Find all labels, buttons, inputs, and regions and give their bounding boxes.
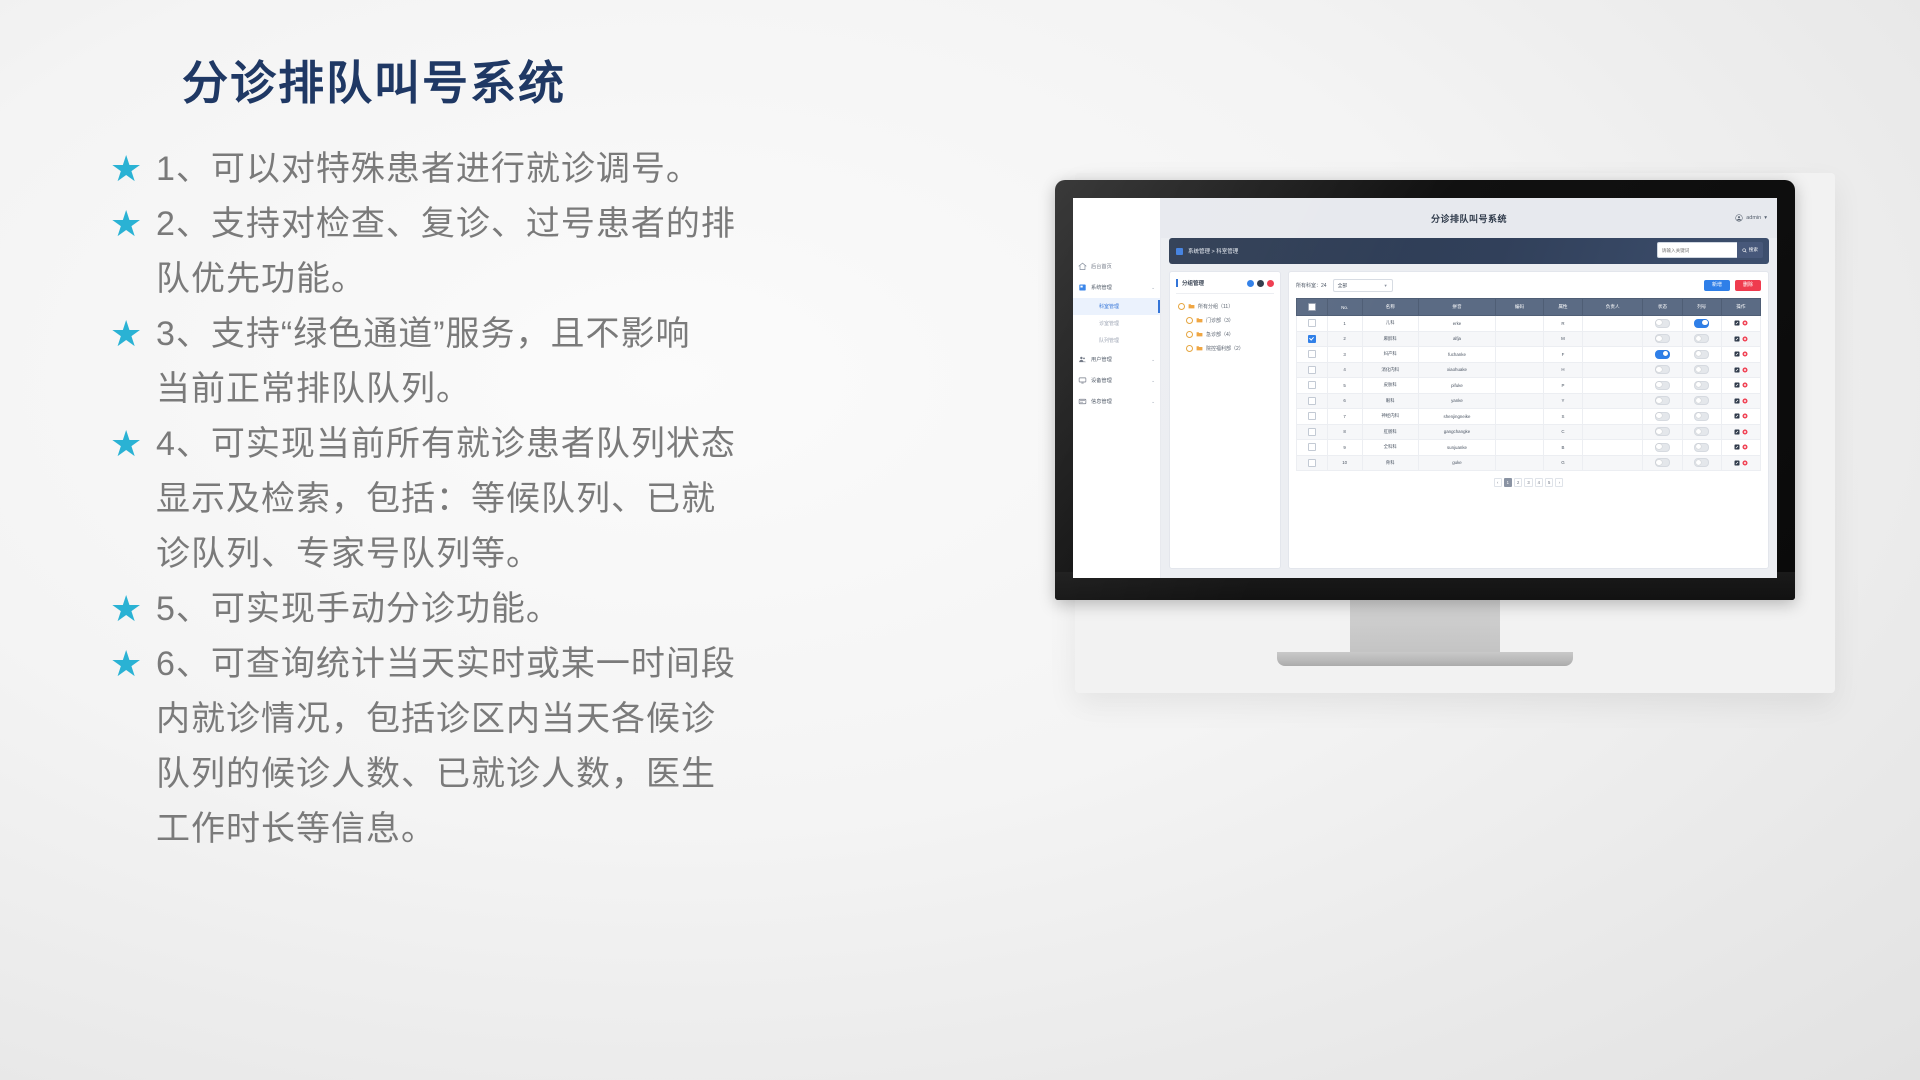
sidebar-subitem-label: 队列管理 — [1099, 337, 1119, 344]
row-operations[interactable] — [1721, 409, 1760, 425]
bullet-text: 显示及检索，包括：等候队列、已就 — [156, 473, 716, 525]
row-pinyin: guke — [1418, 455, 1495, 471]
bullet-text: 5、可实现手动分诊功能。 — [156, 583, 561, 635]
status-toggle-cell[interactable] — [1643, 393, 1682, 409]
sidebar-item-label: 系统管理 — [1091, 284, 1147, 291]
department-filter-select[interactable]: 全部 ▼ — [1333, 279, 1393, 292]
folder-icon — [1188, 303, 1195, 309]
sidebar-subitem-label: 诊室管理 — [1099, 320, 1119, 327]
edit-icon[interactable] — [1734, 413, 1740, 419]
star-icon: ★ — [110, 143, 156, 195]
row-attr: C — [1543, 424, 1582, 440]
edit-icon[interactable] — [1734, 320, 1740, 326]
row-checkbox[interactable] — [1308, 443, 1316, 451]
system-icon — [1078, 283, 1087, 292]
edit-icon[interactable] — [1734, 398, 1740, 404]
edit-icon[interactable] — [1734, 367, 1740, 373]
expand-toggle-icon[interactable] — [1178, 303, 1185, 310]
row-select-cell[interactable] — [1297, 440, 1328, 456]
slide-text-column: 分诊排队叫号系统 ★1、可以对特殊患者进行就诊调号。★2、支持对检查、复诊、过号… — [110, 58, 900, 858]
status-toggle[interactable] — [1655, 334, 1670, 343]
row-no: 4 — [1327, 362, 1362, 378]
folder-icon — [1196, 331, 1203, 337]
queue-toggle-cell[interactable] — [1682, 455, 1721, 471]
bullet-text: 2、支持对检查、复诊、过号患者的排 — [156, 198, 736, 250]
row-operations[interactable] — [1721, 378, 1760, 394]
app-title: 分诊排队叫号系统 — [1431, 212, 1507, 225]
queue-toggle-cell[interactable] — [1682, 409, 1721, 425]
queue-toggle-cell[interactable] — [1682, 440, 1721, 456]
status-toggle[interactable] — [1655, 458, 1670, 467]
row-checkbox[interactable] — [1308, 397, 1316, 405]
app-main: 分诊排队叫号系统 admin ▾ — [1161, 198, 1777, 578]
table-row[interactable]: 8肛肠科gangchangkeC — [1297, 424, 1761, 440]
star-icon-placeholder: ★ — [110, 253, 156, 305]
row-code — [1496, 378, 1544, 394]
chevron-down-icon: ▼ — [1384, 283, 1388, 288]
queue-toggle-cell[interactable] — [1682, 347, 1721, 363]
delete-icon[interactable] — [1742, 460, 1748, 466]
row-name: 儿科 — [1362, 316, 1418, 332]
group-tree-title: 分组管理 — [1182, 279, 1247, 287]
pagination-prev[interactable]: ‹ — [1494, 478, 1502, 487]
star-icon: ★ — [110, 583, 156, 635]
row-code — [1496, 393, 1544, 409]
users-icon — [1078, 355, 1087, 364]
bullet-continuation: ★队列的候诊人数、已就诊人数，医生 — [110, 748, 900, 800]
tree-node-label: 门诊部（3） — [1206, 317, 1234, 324]
delete-icon[interactable] — [1742, 413, 1748, 419]
tree-node[interactable]: 院控福利部（2） — [1176, 341, 1274, 355]
row-name: 骨科 — [1362, 455, 1418, 471]
app-screen: 后台首页系统管理⌄科室管理诊室管理队列管理用户管理⌄设备管理⌄信息管理⌄ 分诊排… — [1073, 198, 1777, 578]
row-pinyin: alfja — [1418, 331, 1495, 347]
bullet-item: ★6、可查询统计当天实时或某一时间段 — [110, 638, 900, 690]
pagination-page-2[interactable]: 2 — [1514, 478, 1522, 487]
bullet-item: ★3、支持“绿色通道”服务，且不影响 — [110, 308, 900, 360]
info-icon — [1078, 397, 1087, 406]
bullet-continuation: ★显示及检索，包括：等候队列、已就 — [110, 473, 900, 525]
table-row[interactable]: 10骨科gukeG — [1297, 455, 1761, 471]
monitor-mockup: 后台首页系统管理⌄科室管理诊室管理队列管理用户管理⌄设备管理⌄信息管理⌄ 分诊排… — [1055, 165, 1855, 705]
delete-icon[interactable] — [1742, 351, 1748, 357]
app-topbar: 分诊排队叫号系统 admin ▾ — [1161, 198, 1777, 238]
chevron-down-icon: ⌄ — [1151, 399, 1155, 405]
star-icon: ★ — [110, 308, 156, 360]
row-attr: B — [1543, 440, 1582, 456]
row-owner — [1583, 331, 1643, 347]
device-icon — [1078, 376, 1087, 385]
row-name: 神经内科 — [1362, 409, 1418, 425]
row-owner — [1583, 393, 1643, 409]
app-sidebar: 后台首页系统管理⌄科室管理诊室管理队列管理用户管理⌄设备管理⌄信息管理⌄ — [1073, 198, 1161, 578]
row-code — [1496, 331, 1544, 347]
row-name: 妇产科 — [1362, 347, 1418, 363]
table-row[interactable]: 3妇产科fuchankeF — [1297, 347, 1761, 363]
row-no: 8 — [1327, 424, 1362, 440]
row-code — [1496, 347, 1544, 363]
delete-icon[interactable] — [1742, 367, 1748, 373]
delete-icon[interactable] — [1742, 429, 1748, 435]
tree-node[interactable]: 门诊部（3） — [1176, 313, 1274, 327]
bullet-item: ★2、支持对检查、复诊、过号患者的排 — [110, 198, 900, 250]
queue-toggle[interactable] — [1694, 412, 1709, 421]
star-icon-placeholder: ★ — [110, 473, 156, 525]
tree-node-label: 所有分组（11） — [1198, 303, 1233, 310]
star-icon-placeholder: ★ — [110, 528, 156, 580]
edit-icon[interactable] — [1734, 351, 1740, 357]
chevron-down-icon: ⌄ — [1151, 357, 1155, 363]
user-name: admin — [1746, 215, 1761, 221]
row-owner — [1583, 424, 1643, 440]
monitor-bezel: 后台首页系统管理⌄科室管理诊室管理队列管理用户管理⌄设备管理⌄信息管理⌄ 分诊排… — [1055, 180, 1795, 600]
page-title: 分诊排队叫号系统 — [182, 58, 900, 109]
status-toggle-cell[interactable] — [1643, 378, 1682, 394]
column-header-6: 负责人 — [1583, 299, 1643, 316]
table-row[interactable]: 4消化内科xiaohuakeH — [1297, 362, 1761, 378]
row-select-cell[interactable] — [1297, 347, 1328, 363]
group-tree-panel: 分组管理 所有分组（11）门诊部（3）急诊部（4）院控福利部（2） — [1169, 271, 1281, 569]
edit-icon[interactable] — [1734, 336, 1740, 342]
row-attr: Y — [1543, 393, 1582, 409]
bullet-text: 内就诊情况，包括诊区内当天各候诊 — [156, 693, 716, 745]
row-pinyin: fuchanke — [1418, 347, 1495, 363]
search-icon — [1742, 248, 1747, 253]
divider — [1176, 293, 1274, 294]
bullet-text: 1、可以对特殊患者进行就诊调号。 — [156, 143, 701, 195]
queue-toggle-cell[interactable] — [1682, 362, 1721, 378]
bullet-item: ★5、可实现手动分诊功能。 — [110, 583, 900, 635]
edit-icon[interactable] — [1734, 429, 1740, 435]
queue-toggle[interactable] — [1694, 334, 1709, 343]
chevron-down-icon: ⌄ — [1151, 378, 1155, 384]
queue-toggle[interactable] — [1694, 458, 1709, 467]
delete-dot-icon[interactable] — [1267, 280, 1274, 287]
group-tree-actions — [1247, 280, 1274, 287]
table-row[interactable]: 2麻醉科alfjaM — [1297, 331, 1761, 347]
row-attr: R — [1543, 316, 1582, 332]
expand-toggle-icon[interactable] — [1186, 331, 1193, 338]
bullet-text: 队优先功能。 — [156, 253, 366, 305]
bullet-continuation: ★内就诊情况，包括诊区内当天各候诊 — [110, 693, 900, 745]
column-header-9: 操作 — [1721, 299, 1760, 316]
row-name: 眼科 — [1362, 393, 1418, 409]
pagination: ‹12345› — [1296, 478, 1761, 487]
bullet-continuation: ★队优先功能。 — [110, 253, 900, 305]
row-attr: S — [1543, 409, 1582, 425]
row-code — [1496, 440, 1544, 456]
row-operations[interactable] — [1721, 393, 1760, 409]
row-code — [1496, 455, 1544, 471]
bullet-item: ★1、可以对特殊患者进行就诊调号。 — [110, 143, 900, 195]
row-attr: G — [1543, 455, 1582, 471]
pagination-page-4[interactable]: 4 — [1535, 478, 1543, 487]
table-body: 1儿科erkeR2麻醉科alfjaM3妇产科fuchankeF4消化内科xiao… — [1297, 316, 1761, 471]
queue-toggle[interactable] — [1694, 350, 1709, 359]
row-no: 10 — [1327, 455, 1362, 471]
row-operations[interactable] — [1721, 331, 1760, 347]
row-code — [1496, 362, 1544, 378]
status-toggle[interactable] — [1655, 427, 1670, 436]
breadcrumb-square-icon — [1176, 248, 1183, 255]
row-checkbox[interactable] — [1308, 428, 1316, 436]
star-icon-placeholder: ★ — [110, 748, 156, 800]
home-icon — [1078, 262, 1087, 271]
search-button[interactable]: 搜索 — [1737, 242, 1763, 258]
row-name: 皮肤科 — [1362, 378, 1418, 394]
status-toggle[interactable] — [1655, 381, 1670, 390]
row-owner — [1583, 455, 1643, 471]
row-operations[interactable] — [1721, 455, 1760, 471]
sidebar-item-1[interactable]: 系统管理⌄ — [1073, 277, 1160, 298]
sidebar-item-label: 设备管理 — [1091, 377, 1147, 384]
row-attr: F — [1543, 347, 1582, 363]
row-select-cell[interactable] — [1297, 316, 1328, 332]
row-code — [1496, 316, 1544, 332]
row-select-cell[interactable] — [1297, 409, 1328, 425]
row-operations[interactable] — [1721, 440, 1760, 456]
filter-value: 全部 — [1338, 282, 1348, 289]
select-all-checkbox[interactable] — [1308, 303, 1316, 311]
group-tree-nodes: 所有分组（11）门诊部（3）急诊部（4）院控福利部（2） — [1176, 299, 1274, 355]
row-checkbox[interactable] — [1308, 381, 1316, 389]
column-header-7: 状态 — [1643, 299, 1682, 316]
row-operations[interactable] — [1721, 316, 1760, 332]
delete-button[interactable]: 删除 — [1735, 280, 1761, 291]
row-pinyin: erke — [1418, 316, 1495, 332]
status-toggle-cell[interactable] — [1643, 409, 1682, 425]
row-no: 3 — [1327, 347, 1362, 363]
bullet-continuation: ★诊队列、专家号队列等。 — [110, 528, 900, 580]
status-toggle-cell[interactable] — [1643, 362, 1682, 378]
feature-bullet-list: ★1、可以对特殊患者进行就诊调号。★2、支持对检查、复诊、过号患者的排★队优先功… — [110, 143, 900, 855]
row-no: 1 — [1327, 316, 1362, 332]
row-select-cell[interactable] — [1297, 331, 1328, 347]
add-dot-icon[interactable] — [1247, 280, 1254, 287]
row-checkbox[interactable] — [1308, 335, 1316, 343]
queue-toggle[interactable] — [1694, 365, 1709, 374]
sidebar-item-label: 信息管理 — [1091, 398, 1147, 405]
edit-icon[interactable] — [1734, 460, 1740, 466]
queue-toggle[interactable] — [1694, 443, 1709, 452]
table-row[interactable]: 5皮肤科pifukeP — [1297, 378, 1761, 394]
status-toggle-cell[interactable] — [1643, 455, 1682, 471]
row-select-cell[interactable] — [1297, 424, 1328, 440]
bullet-text: 队列的候诊人数、已就诊人数，医生 — [156, 748, 716, 800]
row-no: 5 — [1327, 378, 1362, 394]
bullet-text: 4、可实现当前所有就诊患者队列状态 — [156, 418, 736, 470]
status-toggle[interactable] — [1655, 412, 1670, 421]
row-code — [1496, 424, 1544, 440]
breadcrumb: 系统管理 > 科室管理 — [1188, 247, 1238, 255]
search-group: 搜索 — [1657, 242, 1763, 258]
status-toggle[interactable] — [1655, 319, 1670, 328]
status-toggle[interactable] — [1655, 443, 1670, 452]
row-attr: P — [1543, 378, 1582, 394]
row-attr: M — [1543, 331, 1582, 347]
sidebar-item-6[interactable]: 设备管理⌄ — [1073, 370, 1160, 391]
delete-icon[interactable] — [1742, 398, 1748, 404]
status-toggle[interactable] — [1655, 396, 1670, 405]
column-header-1: No. — [1327, 299, 1362, 316]
monitor-stand-neck — [1350, 600, 1500, 658]
status-toggle[interactable] — [1655, 365, 1670, 374]
sidebar-item-7[interactable]: 信息管理⌄ — [1073, 391, 1160, 412]
star-icon-placeholder: ★ — [110, 803, 156, 855]
search-button-label: 搜索 — [1749, 247, 1758, 253]
row-name: 麻醉科 — [1362, 331, 1418, 347]
column-header-4: 编码 — [1496, 299, 1544, 316]
row-select-cell[interactable] — [1297, 378, 1328, 394]
expand-toggle-icon[interactable] — [1186, 317, 1193, 324]
table-row[interactable]: 6眼科yankeY — [1297, 393, 1761, 409]
table-row[interactable]: 1儿科erkeR — [1297, 316, 1761, 332]
row-operations[interactable] — [1721, 424, 1760, 440]
sidebar-item-0[interactable]: 后台首页 — [1073, 256, 1160, 277]
chevron-down-icon: ▾ — [1764, 215, 1767, 221]
status-toggle-cell[interactable] — [1643, 347, 1682, 363]
edit-icon[interactable] — [1734, 382, 1740, 388]
row-no: 7 — [1327, 409, 1362, 425]
star-icon: ★ — [110, 638, 156, 690]
row-owner — [1583, 409, 1643, 425]
column-header-5: 属性 — [1543, 299, 1582, 316]
row-operations[interactable] — [1721, 347, 1760, 363]
row-select-cell[interactable] — [1297, 362, 1328, 378]
row-pinyin: xiaohuake — [1418, 362, 1495, 378]
sidebar-subitem-4[interactable]: 队列管理 — [1073, 332, 1160, 349]
bullet-continuation: ★当前正常排队队列。 — [110, 363, 900, 415]
sidebar-item-5[interactable]: 用户管理⌄ — [1073, 349, 1160, 370]
table-header-row: No.名称拼音编码属性负责人状态列号操作 — [1297, 299, 1761, 316]
add-button[interactable]: 新增 — [1704, 280, 1730, 291]
status-toggle-cell[interactable] — [1643, 440, 1682, 456]
table-head: No.名称拼音编码属性负责人状态列号操作 — [1297, 299, 1761, 316]
queue-toggle-cell[interactable] — [1682, 316, 1721, 332]
bullet-text: 3、支持“绿色通道”服务，且不影响 — [156, 308, 691, 360]
row-name: 全科科 — [1362, 440, 1418, 456]
department-count-label: 所有科室：24 — [1296, 282, 1327, 289]
folder-icon — [1196, 317, 1203, 323]
bullet-item: ★4、可实现当前所有就诊患者队列状态 — [110, 418, 900, 470]
edit-dot-icon[interactable] — [1257, 280, 1264, 287]
sidebar-item-label: 用户管理 — [1091, 356, 1147, 363]
expand-toggle-icon[interactable] — [1186, 345, 1193, 352]
sidebar-subitem-label: 科室管理 — [1099, 303, 1119, 310]
accent-bar — [1176, 279, 1178, 287]
row-no: 2 — [1327, 331, 1362, 347]
column-header-8: 列号 — [1682, 299, 1721, 316]
bullet-text: 诊队列、专家号队列等。 — [156, 528, 541, 580]
queue-toggle[interactable] — [1694, 427, 1709, 436]
row-owner — [1583, 362, 1643, 378]
search-input[interactable] — [1657, 242, 1737, 258]
row-no: 6 — [1327, 393, 1362, 409]
breadcrumb-bar: 系统管理 > 科室管理 搜索 — [1169, 238, 1769, 264]
group-tree-header: 分组管理 — [1176, 279, 1274, 287]
row-owner — [1583, 440, 1643, 456]
tree-node-label: 院控福利部（2） — [1206, 345, 1244, 352]
tree-node[interactable]: 急诊部（4） — [1176, 327, 1274, 341]
row-attr: H — [1543, 362, 1582, 378]
row-owner — [1583, 378, 1643, 394]
row-checkbox[interactable] — [1308, 459, 1316, 467]
edit-icon[interactable] — [1734, 444, 1740, 450]
row-checkbox[interactable] — [1308, 319, 1316, 327]
queue-toggle-cell[interactable] — [1682, 424, 1721, 440]
status-toggle-cell[interactable] — [1643, 316, 1682, 332]
delete-icon[interactable] — [1742, 336, 1748, 342]
delete-icon[interactable] — [1742, 320, 1748, 326]
chevron-down-icon: ⌄ — [1151, 285, 1155, 291]
sidebar-subitem-3[interactable]: 诊室管理 — [1073, 315, 1160, 332]
star-icon: ★ — [110, 418, 156, 470]
delete-icon[interactable] — [1742, 444, 1748, 450]
queue-toggle-cell[interactable] — [1682, 331, 1721, 347]
bullet-text: 当前正常排队队列。 — [156, 363, 471, 415]
bullet-text: 工作时长等信息。 — [156, 803, 436, 855]
row-select-cell[interactable] — [1297, 393, 1328, 409]
status-toggle-cell[interactable] — [1643, 424, 1682, 440]
row-checkbox[interactable] — [1308, 412, 1316, 420]
pagination-page-3[interactable]: 3 — [1524, 478, 1532, 487]
monitor-stand-foot — [1277, 652, 1573, 666]
sidebar-subitem-2[interactable]: 科室管理 — [1073, 298, 1160, 315]
row-select-cell[interactable] — [1297, 455, 1328, 471]
queue-toggle[interactable] — [1694, 381, 1709, 390]
status-toggle[interactable] — [1655, 350, 1670, 359]
status-toggle-cell[interactable] — [1643, 331, 1682, 347]
tree-node[interactable]: 所有分组（11） — [1176, 299, 1274, 313]
queue-toggle[interactable] — [1694, 319, 1709, 328]
table-row[interactable]: 7神经内科shenjingneikeS — [1297, 409, 1761, 425]
tree-node-label: 急诊部（4） — [1206, 331, 1234, 338]
pagination-page-5[interactable]: 5 — [1545, 478, 1553, 487]
bullet-text: 6、可查询统计当天实时或某一时间段 — [156, 638, 736, 690]
star-icon: ★ — [110, 198, 156, 250]
queue-toggle[interactable] — [1694, 396, 1709, 405]
queue-toggle-cell[interactable] — [1682, 378, 1721, 394]
row-operations[interactable] — [1721, 362, 1760, 378]
row-checkbox[interactable] — [1308, 350, 1316, 358]
slide-root: 分诊排队叫号系统 ★1、可以对特殊患者进行就诊调号。★2、支持对检查、复诊、过号… — [0, 0, 1920, 1080]
row-code — [1496, 409, 1544, 425]
row-no: 9 — [1327, 440, 1362, 456]
pagination-page-1[interactable]: 1 — [1504, 478, 1512, 487]
row-name: 消化内科 — [1362, 362, 1418, 378]
row-name: 肛肠科 — [1362, 424, 1418, 440]
user-menu[interactable]: admin ▾ — [1735, 214, 1767, 222]
row-pinyin: pifuke — [1418, 378, 1495, 394]
row-checkbox[interactable] — [1308, 366, 1316, 374]
table-row[interactable]: 9全科科sunjuankeB — [1297, 440, 1761, 456]
department-table-panel: 所有科室：24 全部 ▼ 新增 删除 — [1288, 271, 1769, 569]
pagination-next[interactable]: › — [1555, 478, 1563, 487]
table-toolbar: 所有科室：24 全部 ▼ 新增 删除 — [1296, 279, 1761, 292]
row-pinyin: sunjuanke — [1418, 440, 1495, 456]
star-icon-placeholder: ★ — [110, 363, 156, 415]
row-owner — [1583, 316, 1643, 332]
table-action-buttons: 新增 删除 — [1704, 280, 1761, 291]
row-pinyin: shenjingneike — [1418, 409, 1495, 425]
select-all-header[interactable] — [1297, 299, 1328, 316]
bullet-continuation: ★工作时长等信息。 — [110, 803, 900, 855]
queue-toggle-cell[interactable] — [1682, 393, 1721, 409]
column-header-2: 名称 — [1362, 299, 1418, 316]
star-icon-placeholder: ★ — [110, 693, 156, 745]
row-pinyin: yanke — [1418, 393, 1495, 409]
delete-icon[interactable] — [1742, 382, 1748, 388]
